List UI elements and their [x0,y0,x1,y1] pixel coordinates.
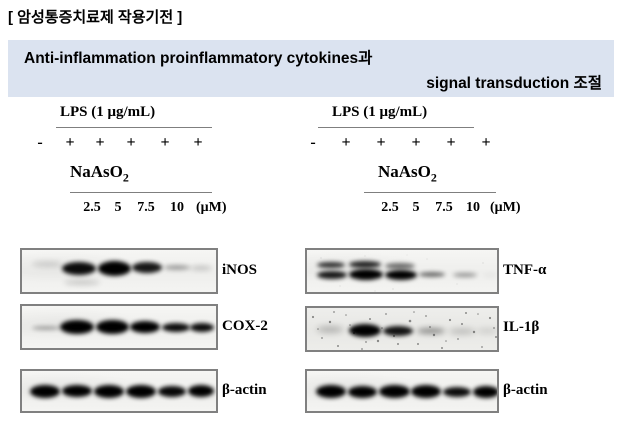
blot-strip-cox2 [20,304,218,350]
conc-label-1: 5 [110,200,126,216]
band-lane-4 [126,385,156,398]
lps-sign-row: - + + + + + [0,134,300,156]
band-lane-1 [30,385,60,398]
blot-label-beta-actin: β-actin [222,382,267,399]
panel-left: LPS (1 μg/mL) - + + + + + NaAsO2 2.5 5 7… [0,104,300,246]
lps-sign-2: + [92,134,108,152]
band-lane-1-upper [317,262,345,268]
band-lane-2 [348,386,377,398]
banner-line-1: Anti-inflammation proinflammatory cytoki… [24,46,372,68]
agent-subscript: 2 [123,170,129,184]
band-shadow [64,280,100,285]
blot-label-beta-actin: β-actin [503,382,548,399]
panel-right: LPS (1 μg/mL) - + + + + + NaAsO2 2.5 5 7… [296,104,621,246]
band-lane-2 [349,269,383,280]
banner-line-2: signal transduction 조절 [426,71,602,93]
agent-name: NaAsO [70,162,123,181]
band-lane-4 [417,328,445,334]
band-lane-4 [419,272,445,277]
lps-rule [318,127,474,128]
blot-strip-beta-actin [305,369,499,413]
band-lane-1 [317,271,347,279]
band-lane-3 [94,385,124,398]
band-lane-5 [164,265,190,270]
band-lane-2-upper [349,261,381,268]
conc-label-0: 2.5 [376,200,404,216]
conc-label-0: 2.5 [78,200,106,216]
panel-right-header: LPS (1 μg/mL) - + + + + + NaAsO2 2.5 5 7… [296,104,621,246]
band-lane-5 [449,329,475,334]
lps-sign-0: - [32,134,48,152]
lps-sign-2: + [373,134,389,152]
figure-root: [ 암성통증치료제 작용기전 ] Anti-inflammation proin… [0,0,621,428]
band-lane-5 [443,387,471,397]
lps-sign-3: + [123,134,139,152]
lps-sign-row: - + + + + + [296,134,621,156]
band-lane-6 [190,323,214,332]
lps-treatment-label: LPS (1 μg/mL) [332,104,427,121]
panel-left-header: LPS (1 μg/mL) - + + + + + NaAsO2 2.5 5 7… [0,104,300,246]
band-lane-3 [98,261,131,276]
agent-subscript: 2 [431,170,437,184]
agent-name: NaAsO [378,162,431,181]
blot-label-inos: iNOS [222,262,257,279]
band-lane-1 [317,326,343,333]
blot-label-tnf-alpha: TNF-α [503,262,546,279]
summary-banner: Anti-inflammation proinflammatory cytoki… [8,40,614,97]
band-lane-6 [188,385,214,397]
agent-rule [70,192,212,193]
agent-rule [364,192,496,193]
lps-sign-0: - [305,134,321,152]
page-title: [ 암성통증치료제 작용기전 ] [8,6,182,27]
band-lane-1 [32,326,60,330]
lps-sign-4: + [157,134,173,152]
agent-label: NaAsO2 [378,162,437,185]
band-lane-6 [190,266,212,270]
lps-sign-5: + [190,134,206,152]
band-lane-6 [473,386,499,398]
conc-label-3: 10 [166,200,188,216]
band-lane-2 [62,262,96,275]
band-lane-3 [385,270,417,280]
conc-unit: (μM) [490,200,520,216]
band-lane-6 [483,274,497,277]
band-lane-3 [383,326,413,336]
lps-sign-4: + [443,134,459,152]
conc-label-1: 5 [408,200,424,216]
band-lane-2 [349,324,381,337]
blot-strip-tnf-alpha [305,248,499,294]
band-lane-6 [477,329,497,333]
lps-treatment-label: LPS (1 μg/mL) [60,104,155,121]
lps-rule [56,127,212,128]
band-lane-4 [411,385,441,398]
band-lane-1 [32,261,62,267]
agent-label: NaAsO2 [70,162,129,185]
blot-strip-beta-actin [20,369,218,413]
band-lane-2 [62,385,92,397]
band-lane-3-upper [385,263,415,269]
blot-label-il-1beta: IL-1β [503,319,539,336]
lps-sign-3: + [408,134,424,152]
conc-label-3: 10 [462,200,484,216]
conc-label-2: 7.5 [132,200,160,216]
blot-strip-inos [20,248,218,294]
blot-strip-il-1beta [305,306,499,352]
band-lane-2 [60,320,94,334]
band-lane-1 [316,385,346,398]
lps-sign-5: + [478,134,494,152]
band-lane-3 [379,385,410,398]
lps-sign-1: + [338,134,354,152]
lps-sign-1: + [62,134,78,152]
band-lane-4 [130,321,160,333]
band-lane-4 [132,262,162,273]
conc-label-2: 7.5 [430,200,458,216]
band-lane-3 [96,320,129,334]
blot-label-cox2: COX-2 [222,318,268,335]
band-lane-5 [162,323,190,332]
conc-unit: (μM) [196,200,226,216]
band-lane-5 [453,273,477,277]
band-lane-5 [158,386,186,397]
